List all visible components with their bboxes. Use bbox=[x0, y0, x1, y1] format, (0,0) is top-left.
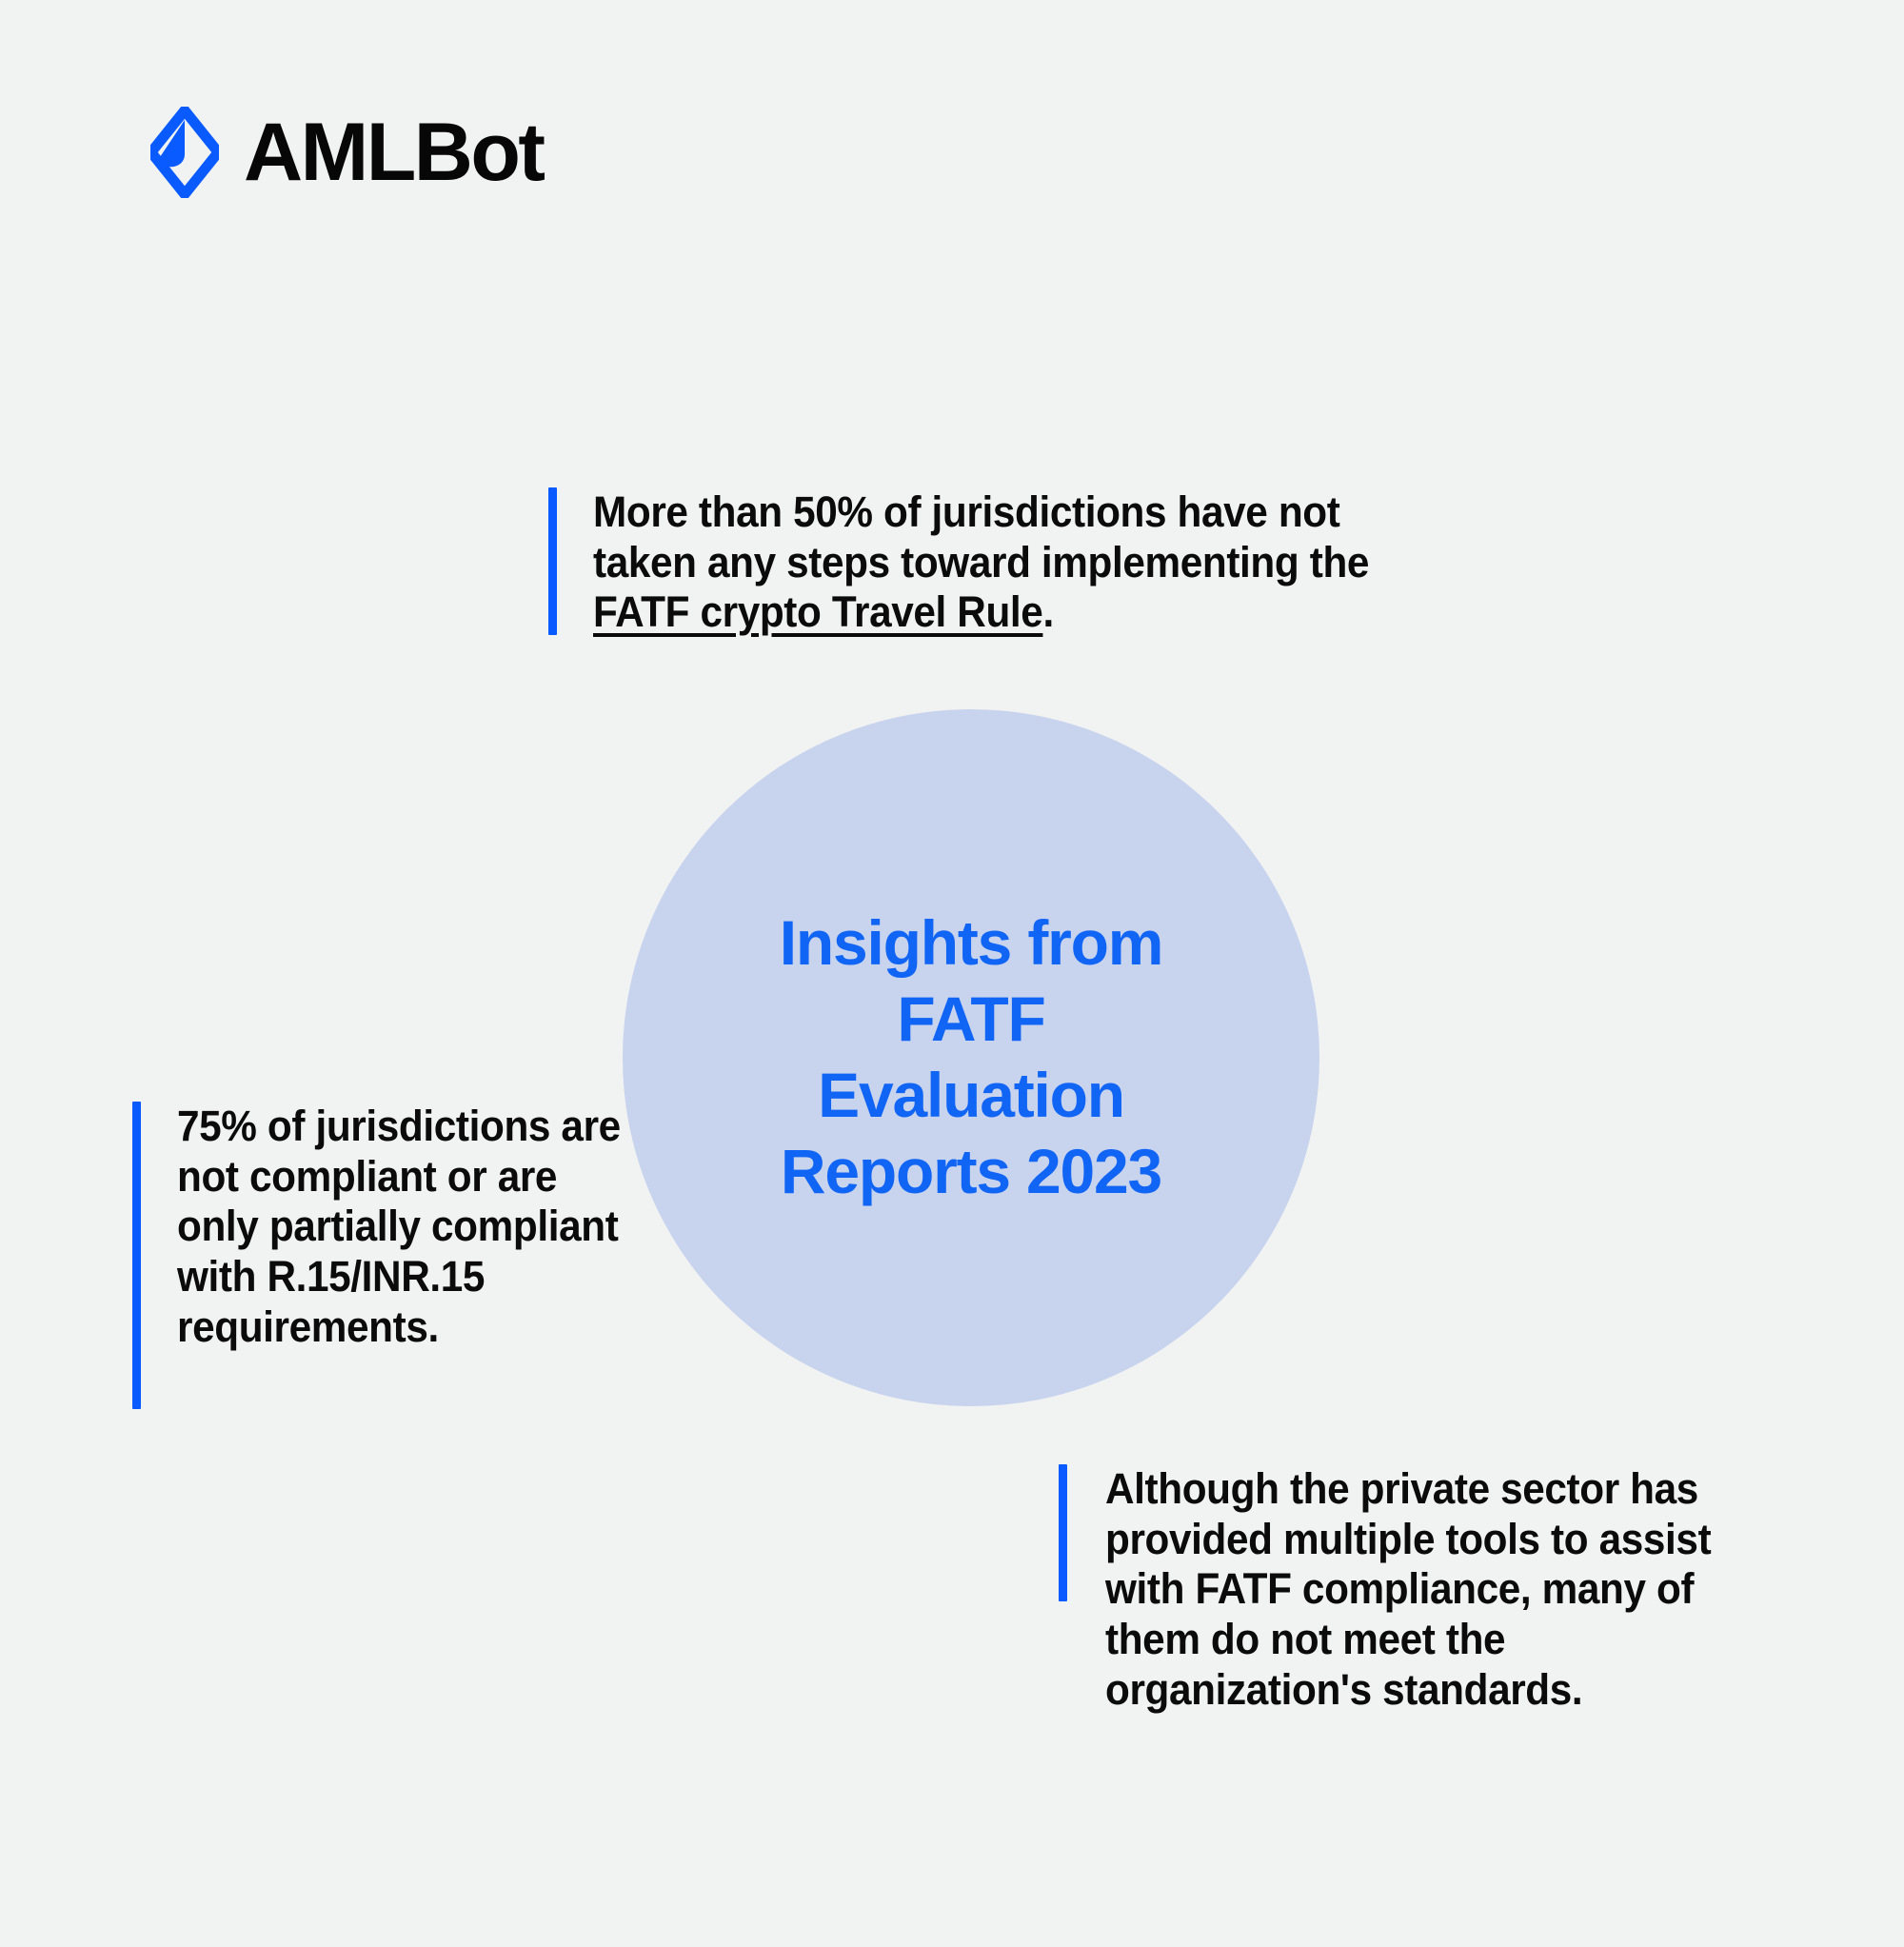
brand-logo[interactable]: AMLBot bbox=[150, 107, 544, 198]
accent-bar bbox=[548, 487, 557, 635]
center-title-line: Evaluation bbox=[666, 1058, 1276, 1134]
callout-text-lead: More than 50% of jurisdictions have not … bbox=[593, 487, 1369, 586]
center-title-line: Reports 2023 bbox=[666, 1134, 1276, 1210]
callout-private-sector-tools: Although the private sector has provided… bbox=[1059, 1464, 1820, 1715]
callout-private-sector-tools-text: Although the private sector has provided… bbox=[1105, 1464, 1777, 1715]
infographic-canvas: AMLBot More than 50% of jurisdictions ha… bbox=[0, 0, 1904, 1947]
accent-bar bbox=[132, 1102, 141, 1409]
center-title: Insights from FATF Evaluation Reports 20… bbox=[666, 905, 1276, 1209]
center-circle: Insights from FATF Evaluation Reports 20… bbox=[623, 709, 1319, 1406]
fatf-travel-rule-link[interactable]: FATF crypto Travel Rule bbox=[593, 587, 1042, 636]
callout-compliance-rate: 75% of jurisdictions are not compliant o… bbox=[132, 1102, 665, 1409]
callout-compliance-rate-text: 75% of jurisdictions are not compliant o… bbox=[177, 1102, 636, 1352]
amlbot-diamond-icon bbox=[150, 107, 219, 198]
callout-travel-rule-text: More than 50% of jurisdictions have not … bbox=[593, 487, 1446, 638]
brand-wordmark: AMLBot bbox=[244, 111, 544, 193]
accent-bar bbox=[1059, 1464, 1067, 1601]
center-title-line: Insights from bbox=[666, 905, 1276, 982]
center-title-line: FATF bbox=[666, 982, 1276, 1058]
callout-text-trail: . bbox=[1042, 587, 1053, 636]
callout-travel-rule: More than 50% of jurisdictions have not … bbox=[548, 487, 1500, 638]
